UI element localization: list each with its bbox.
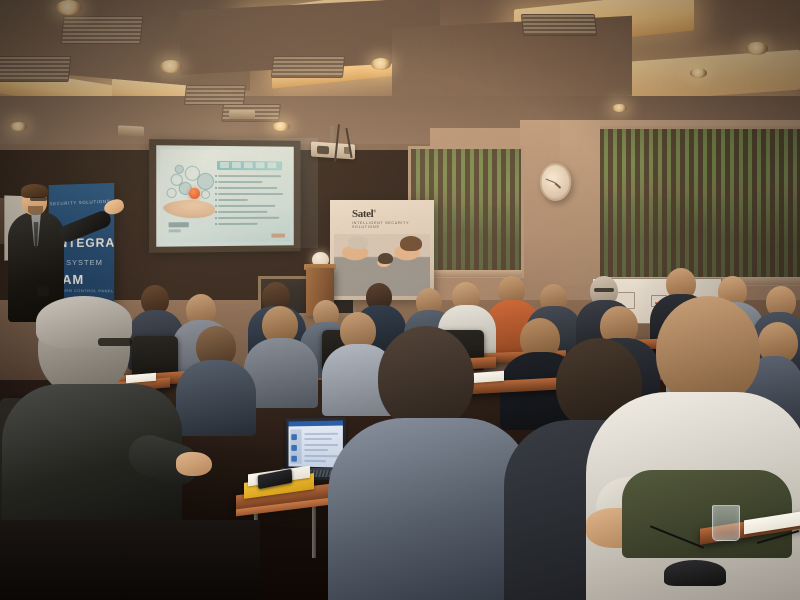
jacket-on-chair bbox=[622, 470, 792, 558]
gear-icon bbox=[197, 173, 214, 190]
person-hair bbox=[348, 236, 368, 249]
hvac-vent-3 bbox=[184, 85, 246, 105]
presenter-glasses bbox=[30, 197, 47, 201]
laptop-text-row bbox=[304, 444, 337, 446]
downlight-4 bbox=[272, 122, 290, 131]
foreground-body-blue bbox=[328, 418, 532, 600]
slide-bullet bbox=[218, 217, 279, 219]
laptop-text-row bbox=[304, 449, 327, 451]
laptop-titlebar bbox=[289, 420, 343, 426]
slide-logo-sub bbox=[169, 229, 181, 232]
hvac-vent-6 bbox=[521, 14, 597, 36]
slide-header-text bbox=[220, 162, 277, 168]
banner-integra-line2: SYSTEM bbox=[66, 258, 103, 267]
slide-hand-graphic bbox=[162, 200, 215, 218]
satel-logo: Satel® bbox=[352, 208, 376, 220]
gear-icon bbox=[201, 190, 210, 199]
laptop-text-row bbox=[304, 455, 337, 457]
window-pier bbox=[560, 120, 600, 285]
presentation-slide bbox=[160, 149, 290, 242]
ceiling-speaker-2 bbox=[229, 110, 255, 119]
window-right bbox=[596, 126, 800, 286]
drinking-glass[interactable] bbox=[712, 505, 740, 541]
slide-logo bbox=[169, 222, 189, 227]
person-hair bbox=[400, 236, 422, 251]
slide-bullet bbox=[218, 223, 258, 225]
satel-logo-text: Satel bbox=[352, 208, 373, 220]
laptop-list-icon bbox=[291, 445, 297, 451]
slide-bullet bbox=[218, 193, 283, 195]
vertical-blinds-right bbox=[599, 129, 800, 283]
downlight-2 bbox=[160, 60, 182, 73]
projector-lens bbox=[317, 146, 329, 155]
desk-leg bbox=[312, 502, 316, 558]
gear-highlight-icon bbox=[189, 188, 200, 199]
person-hair bbox=[378, 253, 393, 264]
downlight-8 bbox=[612, 104, 627, 112]
clock-hour-hand bbox=[555, 182, 562, 188]
foreground-head-dark bbox=[378, 326, 474, 430]
presenter-hair bbox=[21, 184, 48, 198]
laptop-list-icon bbox=[291, 434, 297, 440]
table-microphone[interactable] bbox=[664, 560, 726, 586]
seminar-room-photo: SECURITY SOLUTIONS INTEGRA SYSTEM TAM AL… bbox=[0, 0, 800, 600]
audience-body bbox=[176, 360, 256, 436]
hvac-vent-1 bbox=[61, 16, 144, 44]
slide-bullet bbox=[218, 181, 263, 183]
banner-integra-top-text: SECURITY SOLUTIONS bbox=[49, 199, 110, 207]
slide-bullet bbox=[218, 199, 248, 201]
gear-icon bbox=[166, 188, 176, 198]
satel-tagline: INTELLIGENT SECURITY SOLUTIONS bbox=[352, 221, 434, 229]
audience-glasses bbox=[594, 288, 614, 292]
downlight-7 bbox=[690, 68, 707, 78]
presenter-clicker bbox=[37, 286, 49, 296]
satel-registered-mark: ® bbox=[373, 208, 376, 213]
slide-bullet bbox=[218, 187, 277, 189]
slide-corner-mark bbox=[271, 234, 285, 238]
laptop-list-icon bbox=[291, 456, 297, 462]
downlight-3 bbox=[371, 58, 391, 70]
slide-bullet bbox=[218, 205, 275, 207]
banner-integra-subline: ALARM CONTROL PANEL bbox=[56, 288, 113, 294]
slide-bullet-list bbox=[218, 175, 283, 229]
laptop-text-row bbox=[304, 433, 337, 435]
slide-bullet bbox=[218, 211, 267, 213]
foreground-head-bald bbox=[656, 296, 760, 406]
hvac-vent-5 bbox=[271, 56, 345, 78]
slide-bullet bbox=[218, 175, 281, 177]
downlight-1 bbox=[56, 0, 82, 15]
gear-icon bbox=[175, 165, 184, 174]
hvac-vent-2 bbox=[0, 56, 71, 82]
downlight-5 bbox=[10, 122, 27, 131]
laptop-text-row bbox=[304, 438, 331, 440]
presenter-beard bbox=[28, 206, 43, 215]
clock-minute-hand bbox=[545, 178, 555, 183]
laptop-text-row bbox=[304, 460, 325, 462]
downlight-6 bbox=[746, 42, 768, 55]
foreground-shadow bbox=[0, 520, 260, 600]
foreground-hand bbox=[176, 452, 212, 476]
foreground-glasses bbox=[98, 338, 132, 346]
